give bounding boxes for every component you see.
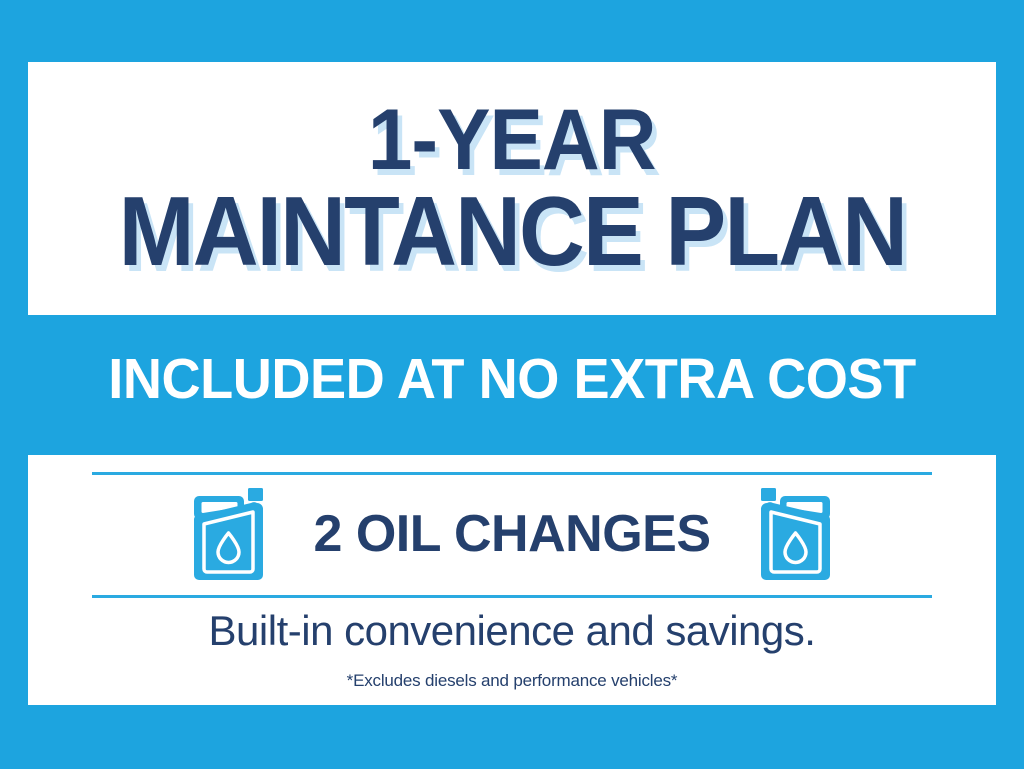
feature-row: 2 OIL CHANGES <box>28 475 996 593</box>
tagline: Built-in convenience and savings. <box>28 607 996 655</box>
oil-can-icon-right <box>753 486 831 582</box>
headline-line-1: 1-YEAR <box>368 101 656 180</box>
promotional-poster: 1-YEAR MAINTANCE PLAN INCLUDED AT NO EXT… <box>0 0 1024 769</box>
headline-line-2: MAINTANCE PLAN <box>118 186 905 276</box>
oil-can-icon-left <box>193 486 271 582</box>
disclaimer: *Excludes diesels and performance vehicl… <box>28 671 996 691</box>
details-card: 2 OIL CHANGES Built-in convenience and s… <box>28 455 996 705</box>
headline-card: 1-YEAR MAINTANCE PLAN <box>28 62 996 315</box>
subheading: INCLUDED AT NO EXTRA COST <box>26 346 999 412</box>
divider-bottom <box>92 595 932 598</box>
feature-label: 2 OIL CHANGES <box>313 504 710 564</box>
